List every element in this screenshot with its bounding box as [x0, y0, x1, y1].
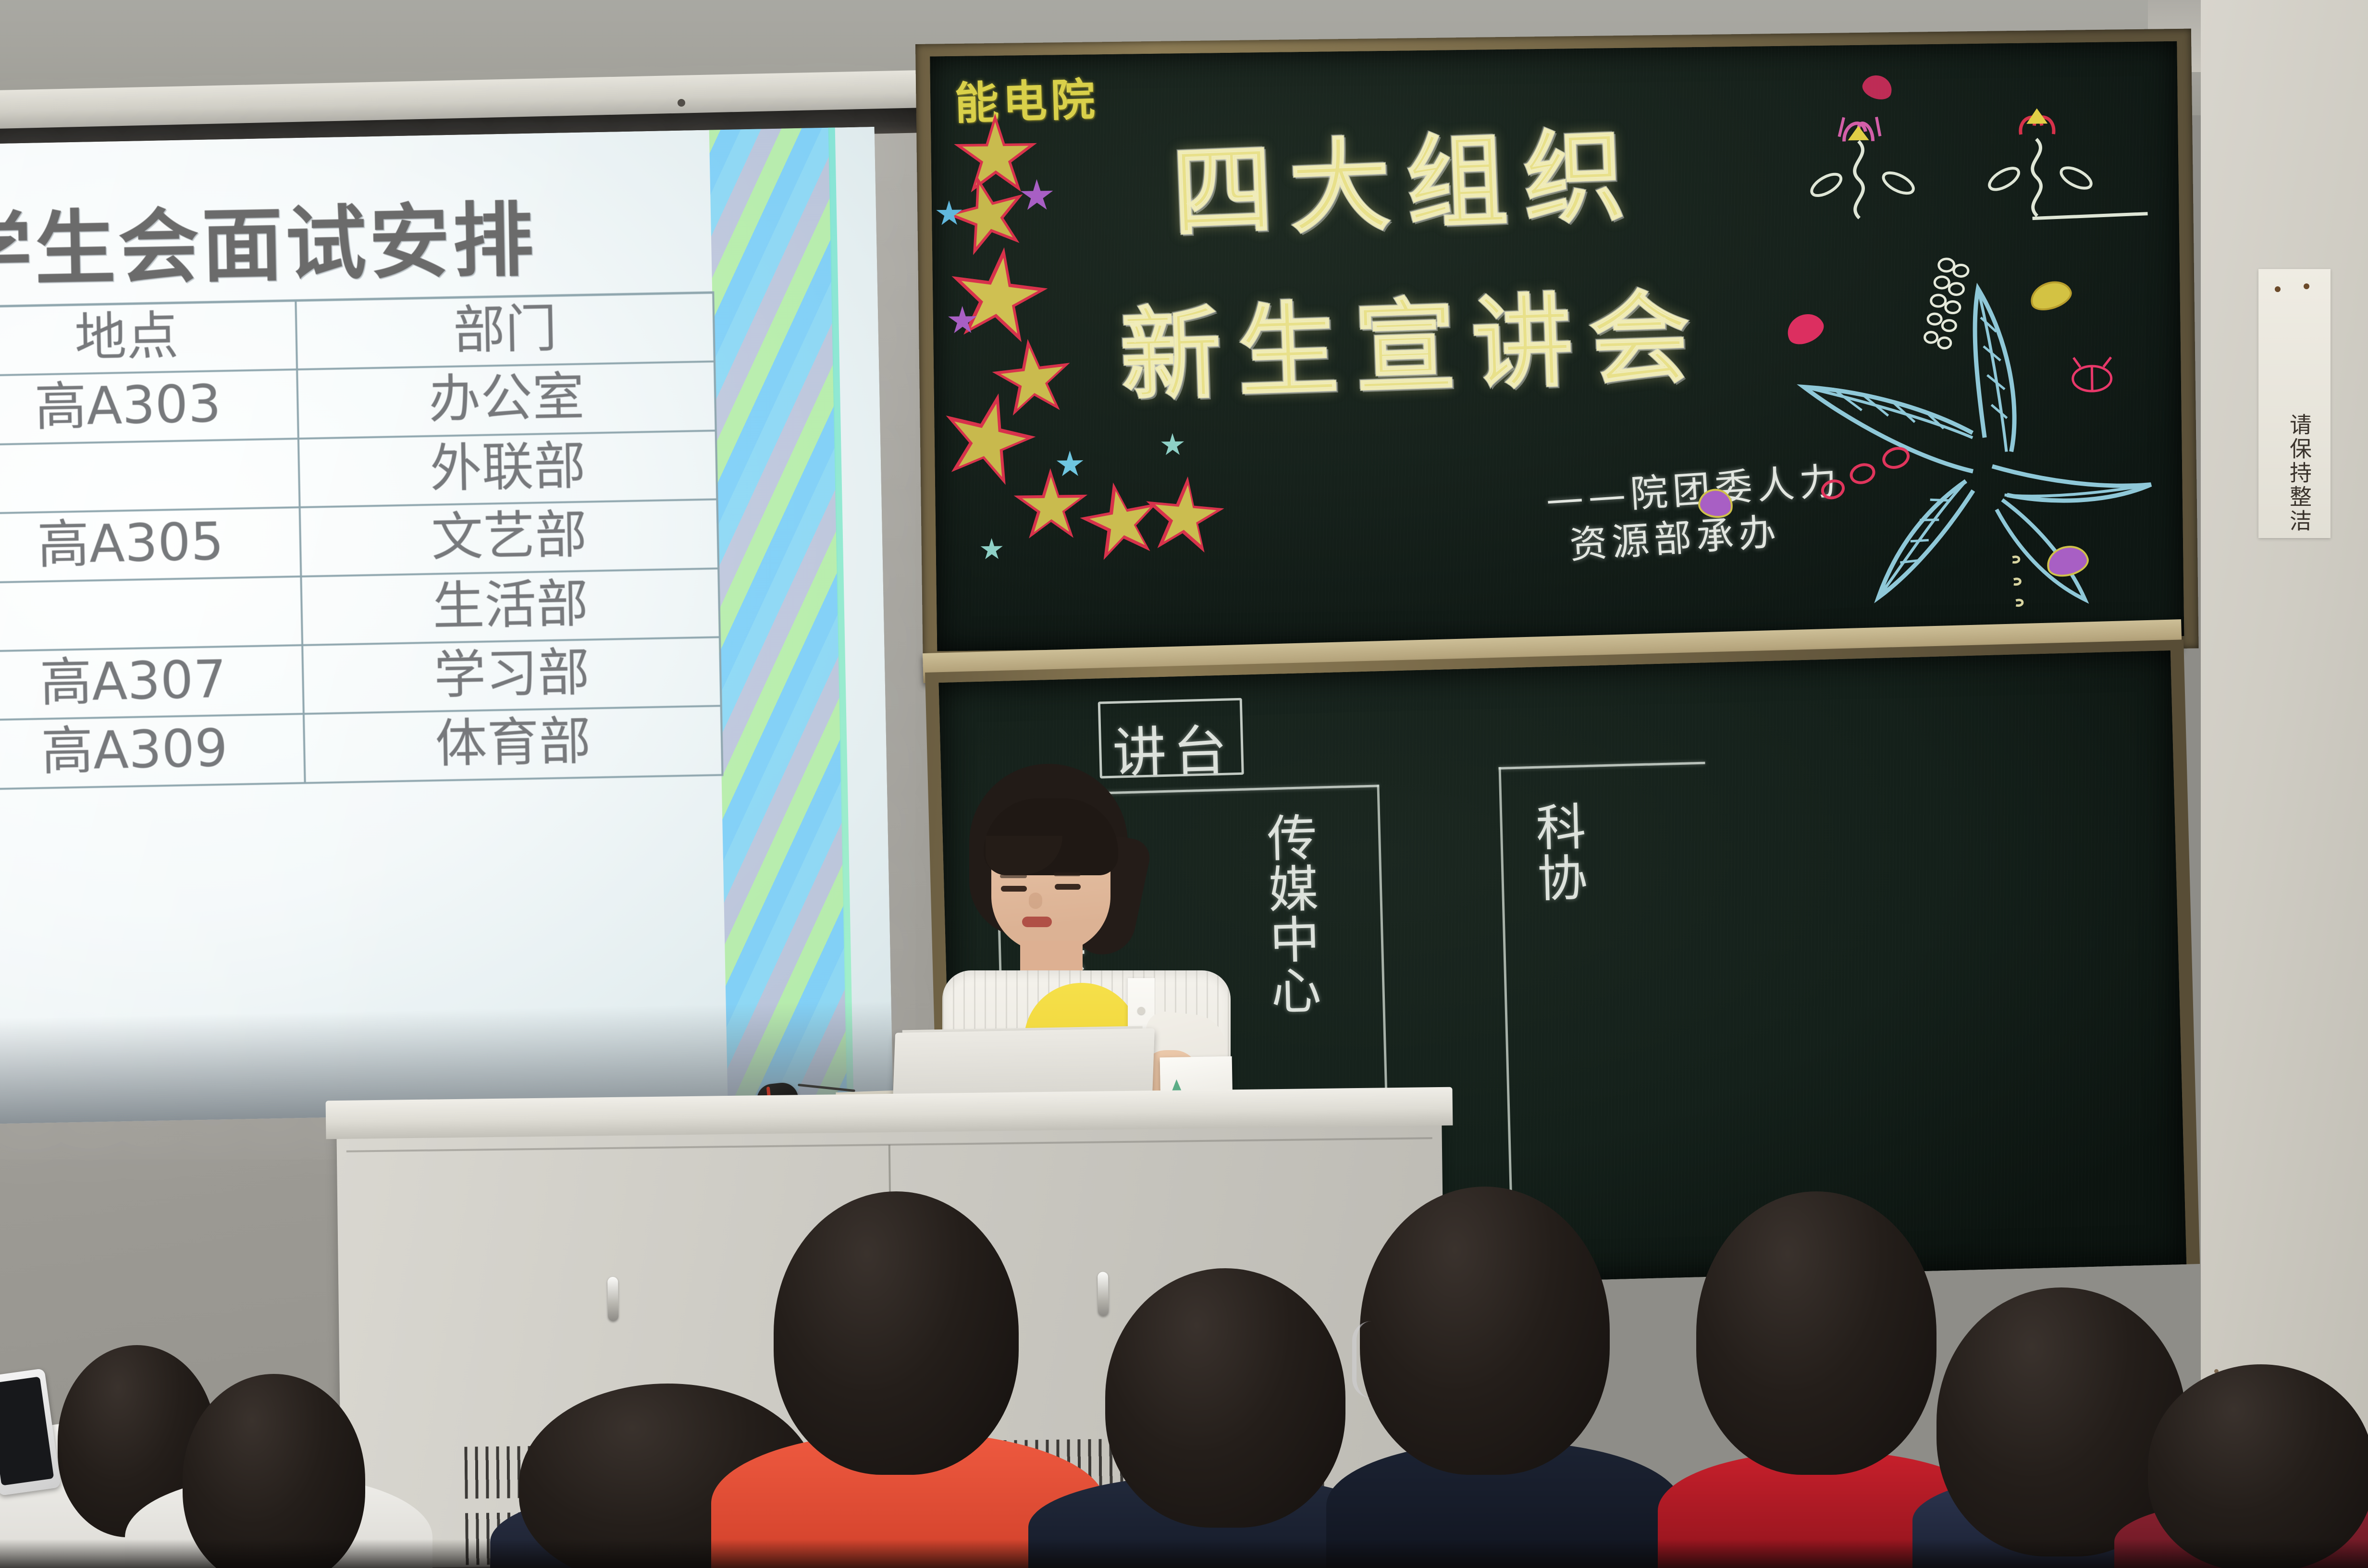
- audience-head: [1696, 1191, 1936, 1475]
- cell-location: [0, 439, 300, 514]
- cell-location: 高A303: [0, 369, 298, 445]
- classroom-scene: 学生会面试安排 地点 部门 高A303 办公室 外联部 高A305 文艺部 生活…: [0, 0, 2368, 1568]
- presenter-eyebrow: [1000, 874, 1027, 878]
- cell-department: 办公室: [297, 362, 715, 439]
- chalk-leaf-drawing: [1699, 70, 2186, 643]
- poster-pin: [2275, 286, 2281, 292]
- column-header-department: 部门: [296, 293, 715, 370]
- cell-location: 高A309: [0, 714, 305, 789]
- right-wall: [2201, 0, 2368, 1568]
- blackboard-top-surface: 能电院 四大组织 新生宣讲会 ——院团委人力 资源部承办: [930, 41, 2184, 651]
- presenter-eye: [1055, 884, 1081, 890]
- audience-head: [1105, 1268, 1345, 1528]
- column-header-location: 地点: [0, 301, 297, 376]
- poster-text: 请保持整洁: [2283, 413, 2315, 533]
- wall-notice: 请保持整洁: [2258, 269, 2331, 538]
- cell-location: 高A305: [0, 507, 301, 583]
- chalk-section-media-center: 传媒中心: [1260, 811, 1318, 1017]
- cell-location: [0, 576, 302, 652]
- audience-head: [774, 1191, 1019, 1475]
- interview-schedule-table: 地点 部门 高A303 办公室 外联部 高A305 文艺部 生活部 高A307: [0, 291, 724, 790]
- presenter-nose: [1029, 893, 1042, 909]
- cell-department: 体育部: [304, 706, 722, 783]
- cell-department: 生活部: [301, 568, 720, 645]
- projection-screen: 学生会面试安排 地点 部门 高A303 办公室 外联部 高A305 文艺部 生活…: [0, 127, 893, 1124]
- blackboard-top-frame: 能电院 四大组织 新生宣讲会 ——院团委人力 资源部承办: [915, 29, 2199, 664]
- presenter-eye: [1001, 886, 1027, 892]
- cabinet-handle[interactable]: [1098, 1272, 1109, 1316]
- audience-head: [2148, 1364, 2368, 1568]
- presenter-shirt-button: [1137, 1007, 1145, 1015]
- presenter-eyebrow: [1054, 872, 1081, 876]
- cell-department: 文艺部: [300, 500, 718, 576]
- cabinet-handle[interactable]: [607, 1277, 618, 1321]
- audience-head: [1360, 1187, 1610, 1475]
- cell-department: 学习部: [302, 637, 721, 714]
- chalk-headline-line1: 四大组织: [1169, 94, 1643, 257]
- table-row: 高A309 体育部: [0, 706, 722, 790]
- eyeglasses-temple: [1352, 1321, 1381, 1398]
- poster-pin: [2304, 283, 2309, 289]
- chalk-college-tag: 能电院: [953, 64, 1099, 132]
- cell-location: 高A307: [0, 645, 304, 721]
- chalk-headline-line2: 新生宣讲会: [1118, 255, 1708, 420]
- slide-title: 学生会面试安排: [0, 174, 537, 302]
- presenter-mouth: [1022, 917, 1052, 927]
- chalk-section-science-assoc: 科协: [1529, 800, 1584, 904]
- cell-department: 外联部: [298, 430, 717, 507]
- roller-screw: [678, 99, 685, 107]
- foreground-shadow: [0, 1539, 2368, 1568]
